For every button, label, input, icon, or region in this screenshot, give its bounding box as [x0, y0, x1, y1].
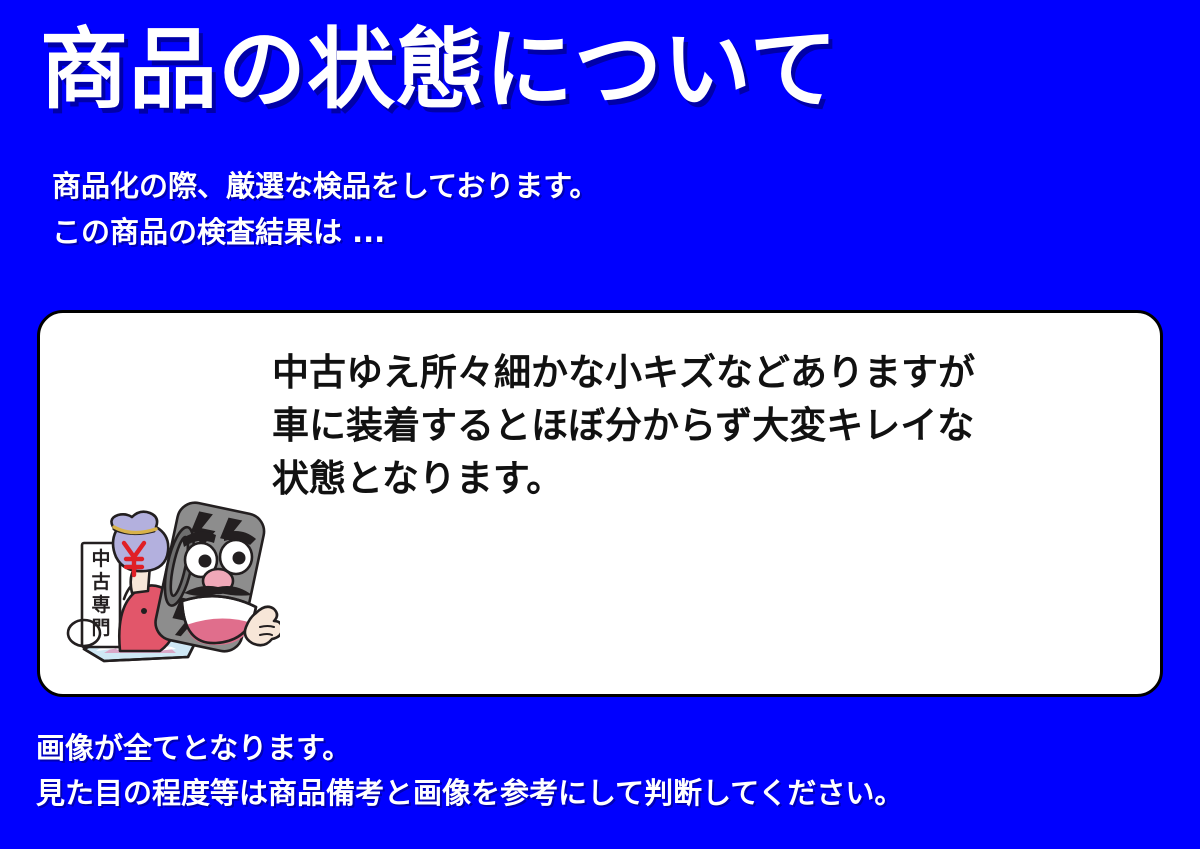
condition-line-2: 車に装着するとほぼ分からず大変キレイな [272, 399, 975, 452]
condition-text-block: 中古ゆえ所々細かな小キズなどありますが 車に装着するとほぼ分からず大変キレイな … [272, 346, 975, 505]
tire-character-mascot-icon: 中 古 専 門 [60, 481, 280, 681]
condition-line-1: 中古ゆえ所々細かな小キズなどありますが [272, 346, 975, 399]
footer-block: 画像が全てとなります。 見た目の程度等は商品備考と画像を参考にして判断してくださ… [36, 726, 903, 816]
svg-text:古: 古 [91, 570, 110, 593]
money-bag-shape [111, 512, 168, 572]
subtitle-line-1: 商品化の際、厳選な検品をしております。 [52, 163, 598, 209]
subtitle-block: 商品化の際、厳選な検品をしております。 この商品の検査結果は ... [52, 163, 598, 255]
notice-page: 商品の状態について 商品化の際、厳選な検品をしております。 この商品の検査結果は… [0, 0, 1200, 849]
condition-line-3: 状態となります。 [272, 452, 975, 505]
footer-line-2: 見た目の程度等は商品備考と画像を参考にして判断してください。 [36, 771, 903, 816]
subtitle-line-2: この商品の検査結果は ... [52, 209, 598, 255]
svg-text:専: 専 [91, 594, 110, 616]
page-title: 商品の状態について [40, 14, 838, 126]
condition-card: 中古ゆえ所々細かな小キズなどありますが 車に装着するとほぼ分からず大変キレイな … [37, 310, 1163, 697]
footer-line-1: 画像が全てとなります。 [36, 726, 903, 771]
svg-text:中: 中 [91, 547, 110, 570]
